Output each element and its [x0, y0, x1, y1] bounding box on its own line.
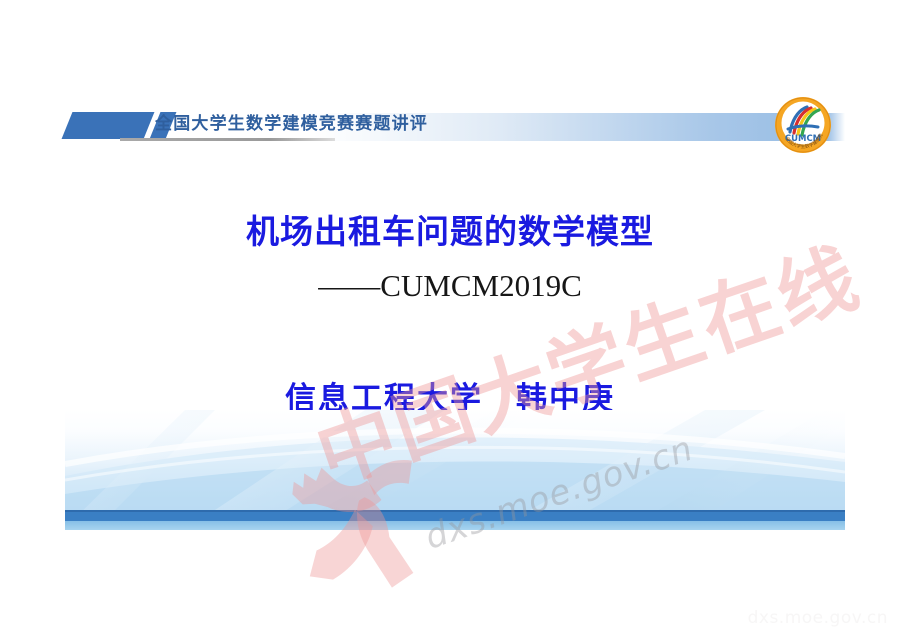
watermark-overlay: 中国大学生在线 dxs.moe.gov.cn [0, 0, 900, 636]
slide-sub-title: ——CUMCM2019C [0, 268, 900, 304]
header-parallelogram-shape [62, 112, 155, 139]
presentation-slide: 全国大学生数学建模竞赛赛题讲评 CUMCM 全国大学生数学建模竞赛 机场出租车问… [0, 0, 900, 636]
slide-main-title: 机场出租车问题的数学模型 [0, 205, 900, 253]
corner-url-label: dxs.moe.gov.cn [748, 608, 888, 628]
header-title: 全国大学生数学建模竞赛赛题讲评 [155, 109, 428, 134]
cumcm-logo: CUMCM 全国大学生数学建模竞赛 [774, 96, 832, 154]
slide-header-banner: 全国大学生数学建模竞赛赛题讲评 [65, 105, 845, 150]
bottom-accent-bar-light [65, 521, 845, 530]
header-underline-rule [120, 138, 335, 141]
